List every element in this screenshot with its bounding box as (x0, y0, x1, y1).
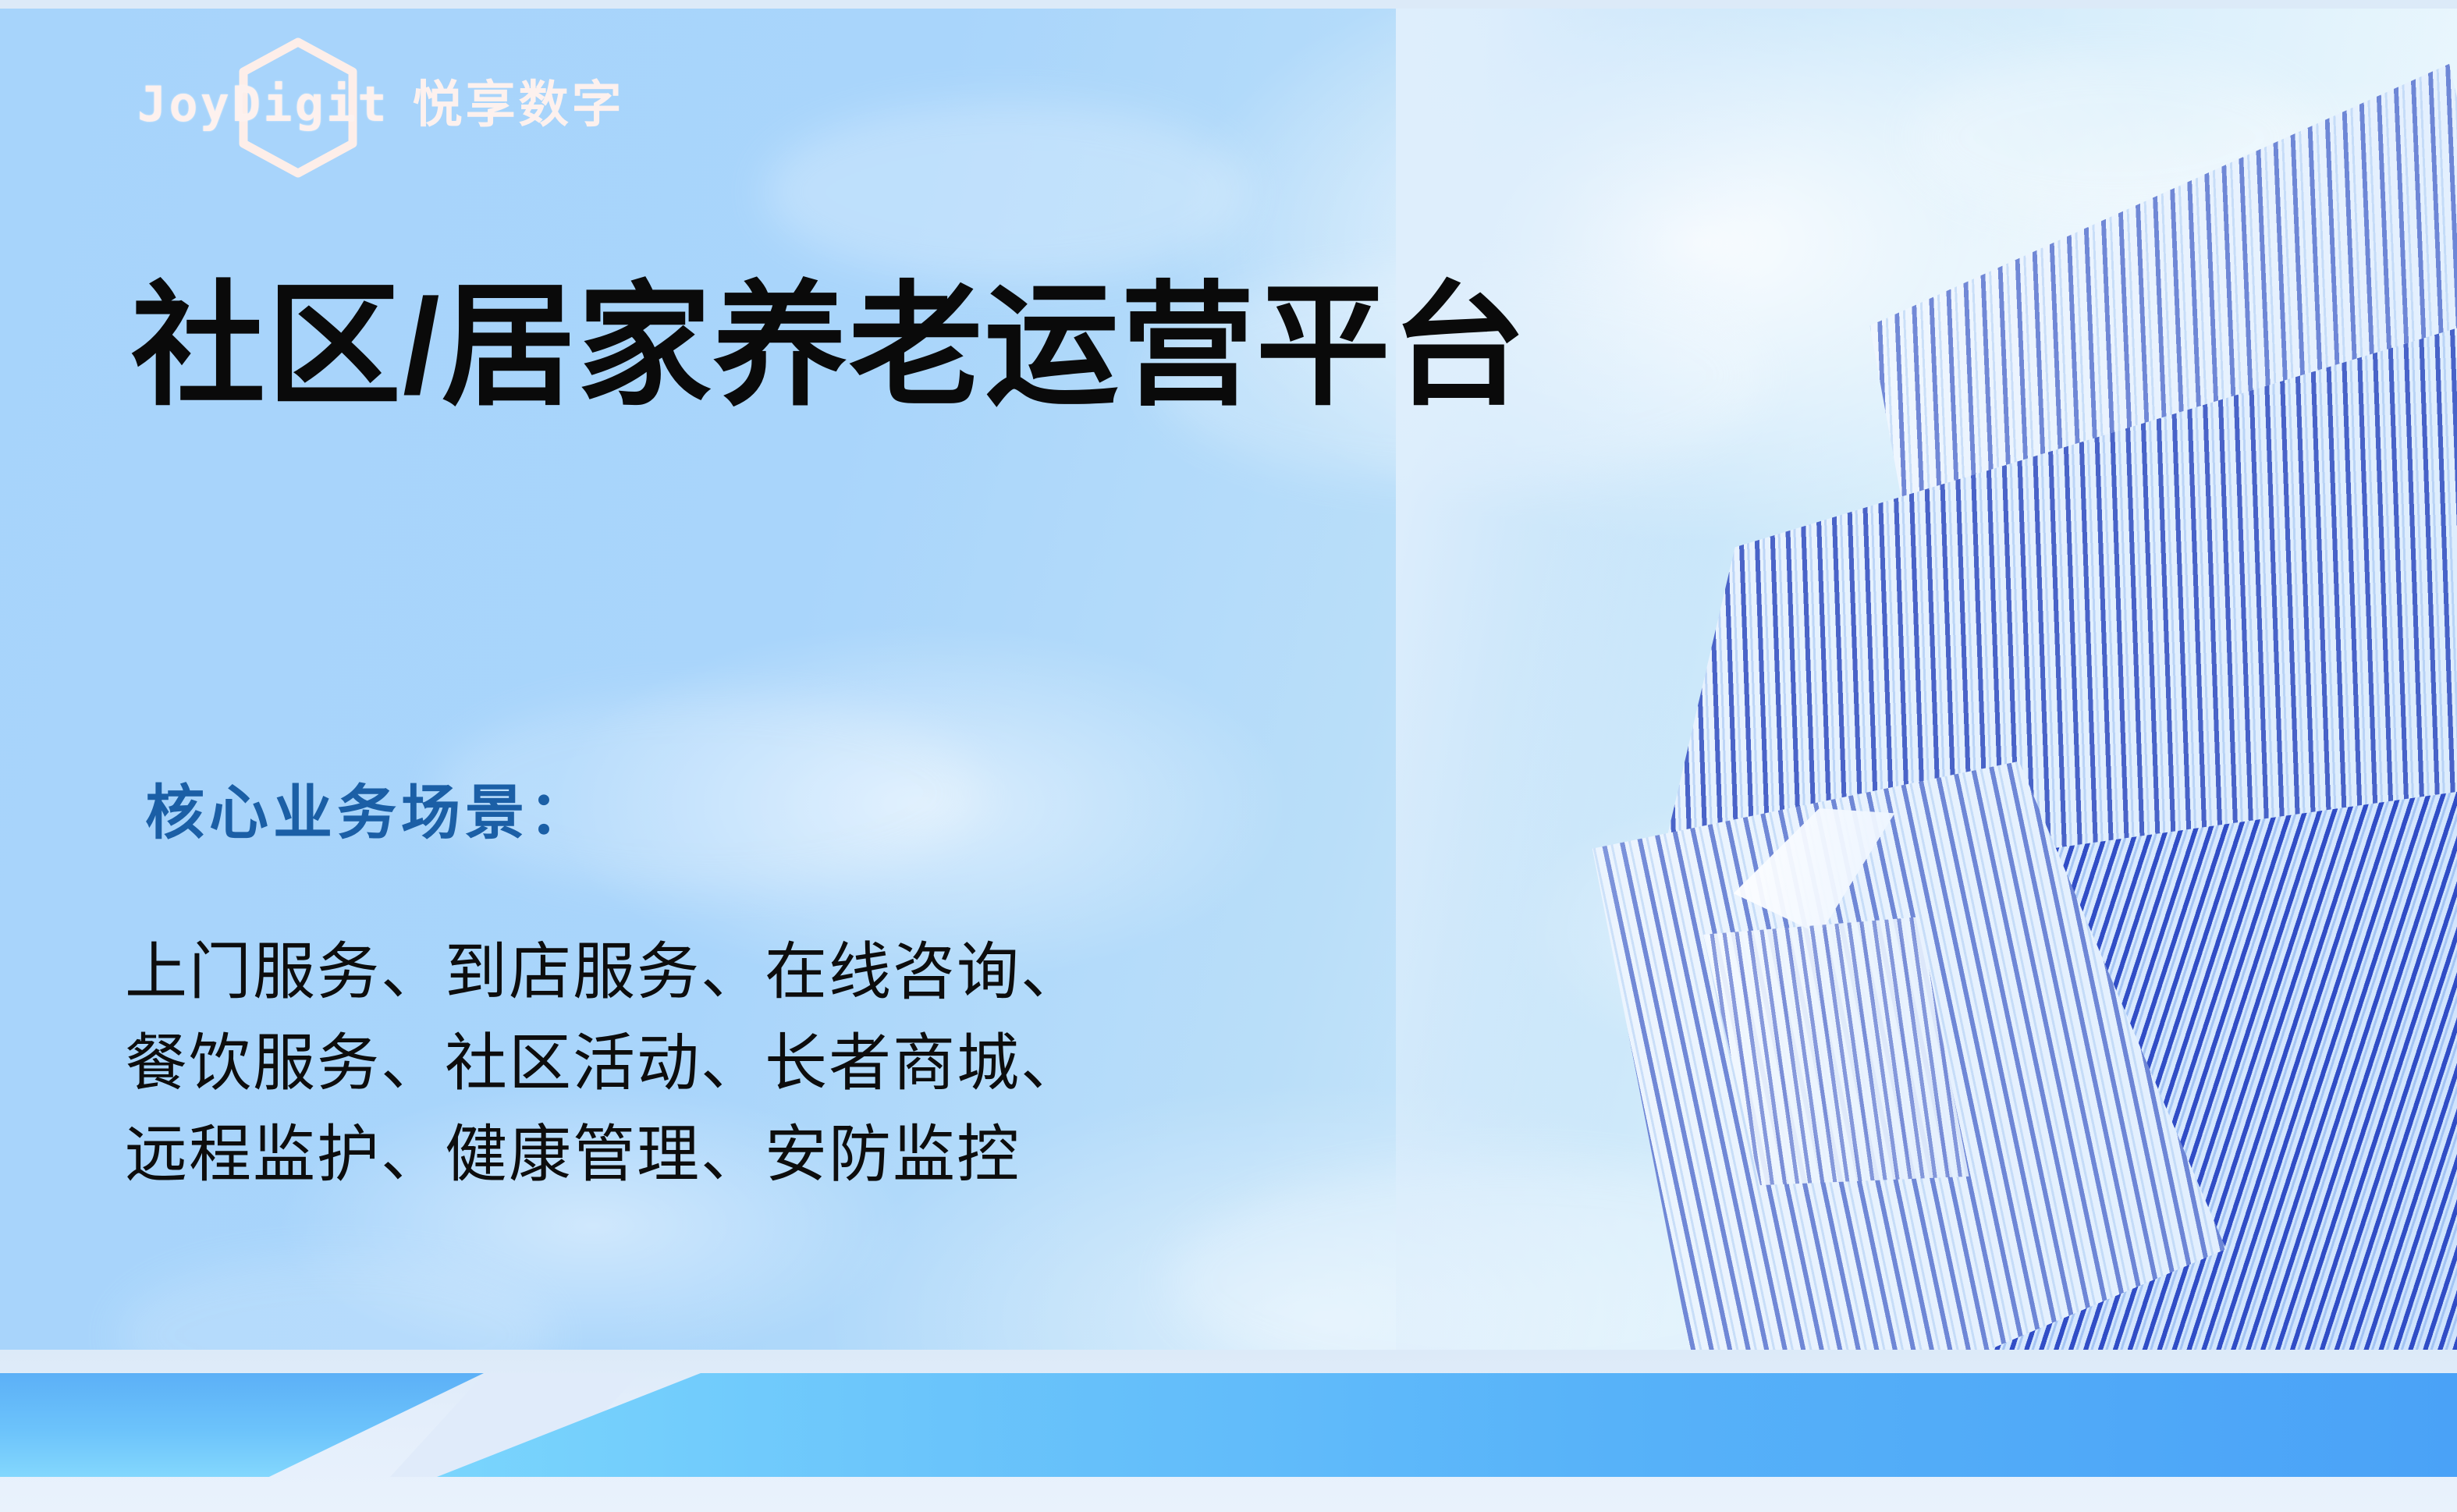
scenario-list: 上门服务、到店服务、在线咨询、 餐饮服务、社区活动、长者商城、 远程监护、健康管… (125, 927, 1085, 1200)
logo-latin-wordmark: JoyDigit (137, 80, 389, 129)
scenario-line: 上门服务、到店服务、在线咨询、 (125, 927, 1085, 1018)
logo-chinese-wordmark: 悦享数字 (413, 80, 625, 130)
brand-logo[interactable]: JoyDigit 悦享数字 (137, 69, 625, 140)
scenario-line: 餐饮服务、社区活动、长者商城、 (125, 1018, 1085, 1109)
top-strip (0, 0, 2457, 9)
slide-canvas: JoyDigit 悦享数字 社区/居家养老运营平台 核心业务场景： 上门服务、到… (0, 0, 2457, 1512)
skyscraper-photo (1396, 9, 2457, 1377)
cloud-shape (765, 102, 1248, 282)
page-title: 社区/居家养老运营平台 (131, 279, 1528, 413)
bottom-decorative-band (0, 1350, 2457, 1512)
section-label: 核心业务场景： (145, 784, 593, 843)
scenario-line: 远程监护、健康管理、安防监控 (125, 1109, 1085, 1201)
band-main-parallelogram (437, 1373, 2457, 1477)
